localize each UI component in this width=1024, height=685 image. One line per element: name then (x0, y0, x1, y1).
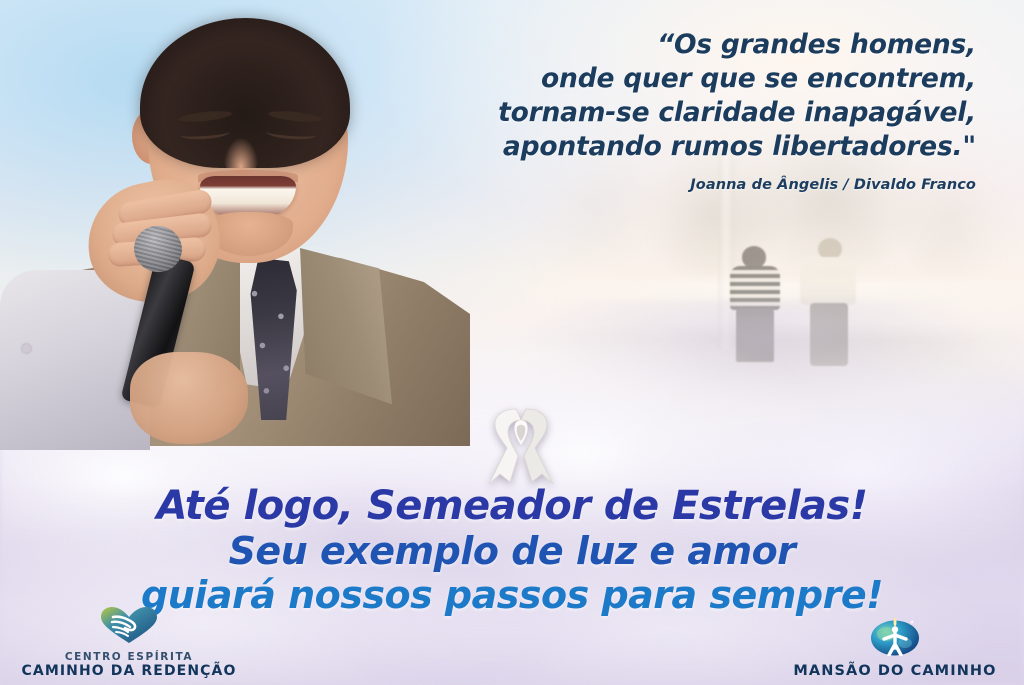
quote-line-2: onde quer que se encontrem, (416, 62, 976, 96)
white-ribbon-icon (483, 408, 559, 490)
logo-mansao-do-caminho: MANSÃO DO CAMINHO (780, 614, 1010, 679)
headline-line-1: Até logo, Semeador de Estrelas! (0, 486, 1024, 526)
globe-figure-flame-icon (780, 614, 1010, 660)
memorial-poster: “Os grandes homens, onde quer que se enc… (0, 0, 1024, 685)
headline-block: Até logo, Semeador de Estrelas! Seu exem… (0, 486, 1024, 614)
logo-right-line-1: MANSÃO DO CAMINHO (780, 663, 1010, 679)
logo-centro-espirita: CENTRO ESPÍRITA CAMINHO DA REDENÇÃO (14, 606, 244, 679)
quote-block: “Os grandes homens, onde quer que se enc… (416, 28, 976, 193)
portrait-divaldo (0, 0, 470, 440)
headline-line-2: Seu exemplo de luz e amor (0, 532, 1024, 570)
quote-attribution: Joanna de Ângelis / Divaldo Franco (416, 177, 976, 193)
quote-line-3: tornam-se claridade inapagável, (416, 96, 976, 130)
figure-torso (800, 257, 856, 305)
portrait-microphone-hand (130, 352, 248, 444)
figure-head (742, 246, 766, 268)
logo-left-line-1: CENTRO ESPÍRITA (14, 651, 244, 663)
quote-line-4: apontando rumos libertadores." (416, 130, 976, 164)
heart-hands-icon (14, 606, 244, 648)
logo-left-line-2: CAMINHO DA REDENÇÃO (14, 663, 244, 679)
portrait-nose (224, 138, 258, 174)
portrait-cuff-button (22, 344, 31, 353)
quote-line-1: “Os grandes homens, (416, 28, 976, 62)
